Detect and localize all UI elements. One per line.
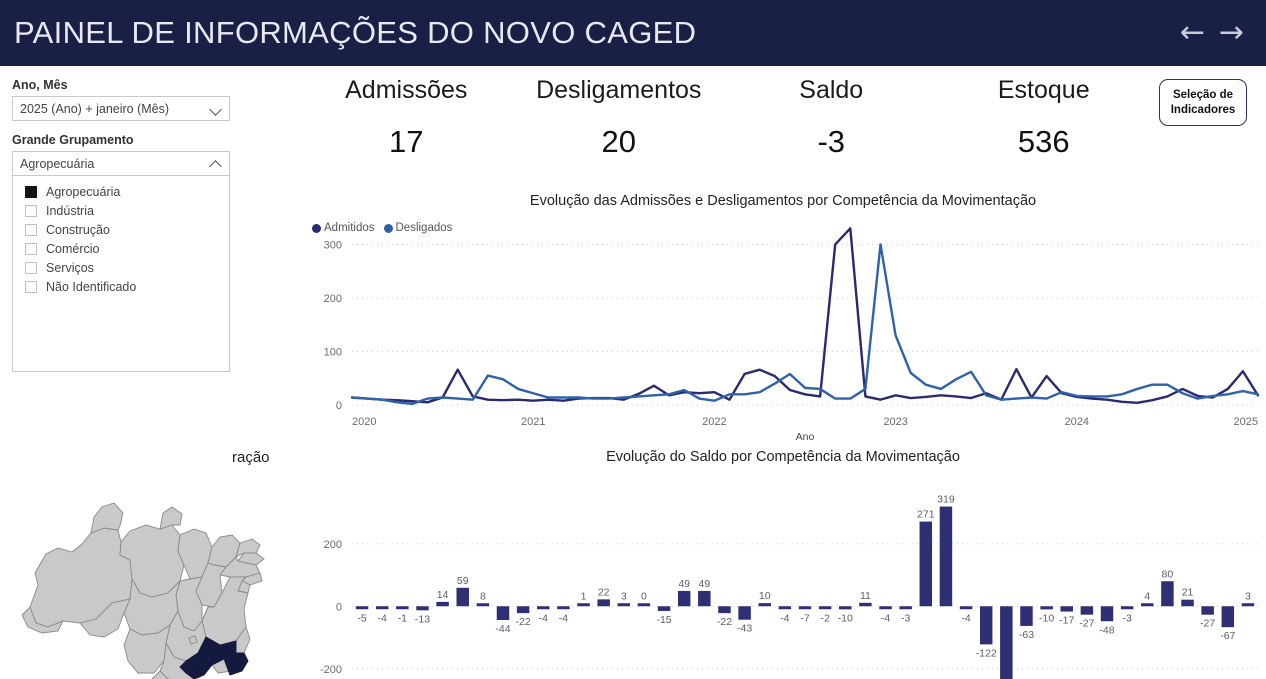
line-chart-title: Evolução das Admissões e Desligamentos p… [300,193,1266,209]
y-tick-label: 200 [324,293,342,305]
bar-37[interactable] [1101,606,1113,621]
bar-chart-svg: -2000200-5-4-1-1314598-44-22-4-412230-15… [300,470,1266,679]
occluded-chart-title: ração [232,449,270,466]
bar-value-label: -44 [495,623,510,635]
state-roraima [91,503,123,533]
kpi-card-3: Estoque536 [938,75,1151,185]
bar-value-label: -1 [398,612,407,624]
dashboard-root: PAINEL DE INFORMAÇÕES DO NOVO CAGED ← → … [0,0,1266,679]
state-distrito-federal [189,636,197,644]
bar-18[interactable] [718,606,730,613]
bar-value-label: -22 [717,616,732,628]
kpi-value: 17 [300,125,513,159]
bar-31[interactable] [980,606,992,644]
bar-27[interactable] [899,606,911,609]
checkbox-icon[interactable] [25,205,37,217]
group-filter-options[interactable]: AgropecuáriaIndústriaConstruçãoComércioS… [12,176,230,372]
bar-chart[interactable]: -2000200-5-4-1-1314598-44-22-4-412230-15… [300,470,1266,679]
arrow-left-icon[interactable]: ← [1180,18,1205,48]
bar-value-label: -10 [838,612,853,624]
kpi-title: Desligamentos [513,75,726,105]
bar-value-label: 49 [698,578,710,590]
kpi-card-1: Desligamentos20 [513,75,726,185]
period-filter-select[interactable]: 2025 (Ano) + janeiro (Mês) [12,96,230,121]
arrow-right-icon[interactable]: → [1219,18,1244,48]
bar-value-label: -4 [559,612,568,624]
x-tick-label: 2024 [1065,416,1089,428]
bar-value-label: -7 [800,612,809,624]
group-option-label: Construção [46,223,110,237]
checkbox-icon[interactable] [25,224,37,236]
bar-6[interactable] [477,603,489,606]
checkbox-icon[interactable] [25,243,37,255]
bar-32[interactable] [1000,606,1012,679]
period-filter-value: 2025 (Ano) + janeiro (Mês) [20,102,169,116]
bar-value-label: 4 [1144,590,1150,602]
y-tick-label: 0 [336,400,342,412]
bar-value-label: -3 [1122,612,1131,624]
kpi-row: Admissões17Desligamentos20Saldo-3Estoque… [300,75,1150,185]
bar-value-label: -17 [1059,615,1074,627]
bar-value-label: -10 [1039,612,1054,624]
group-option-5[interactable]: Não Identificado [13,277,229,296]
bar-value-label: 0 [641,590,647,602]
bar-25[interactable] [859,603,871,606]
x-tick-label: 2023 [883,416,907,428]
group-option-3[interactable]: Comércio [13,239,229,258]
bar-41[interactable] [1181,600,1193,607]
app-header: PAINEL DE INFORMAÇÕES DO NOVO CAGED ← → [0,0,1266,66]
bar-value-label: -27 [1200,618,1215,630]
state-amapa [160,507,182,529]
y-tick-label: 200 [324,539,342,551]
bar-value-label: -4 [961,612,970,624]
x-tick-label: 2022 [702,416,726,428]
x-axis-title: Ano [796,431,815,443]
bar-33[interactable] [1020,606,1032,626]
group-option-1[interactable]: Indústria [13,201,229,220]
bar-4[interactable] [436,602,448,606]
group-option-label: Comércio [46,242,100,256]
bar-19[interactable] [738,606,750,619]
bar-17[interactable] [698,591,710,606]
bar-value-label: -43 [737,623,752,635]
bar-chart-title: Evolução do Saldo por Competência da Mov… [300,449,1266,465]
bar-2[interactable] [396,606,408,609]
bar-1[interactable] [376,606,388,609]
bar-value-label: -27 [1079,618,1094,630]
group-filter-label: Grande Grupamento [12,133,300,147]
brazil-map-svg [8,481,300,679]
x-tick-label: 2020 [352,416,376,428]
bar-value-label: 271 [917,509,935,521]
bar-3[interactable] [416,606,428,610]
group-filter-value: Agropecuária [20,157,94,171]
bar-9[interactable] [537,606,549,609]
bar-21[interactable] [779,606,791,609]
bar-value-label: 11 [860,590,871,602]
group-option-label: Agropecuária [46,185,120,199]
bar-value-label: 319 [937,494,955,506]
indicator-selection-button[interactable]: Seleção de Indicadores [1159,79,1247,126]
brazil-map[interactable] [8,481,300,679]
bar-value-label: -4 [780,612,789,624]
page-title: PAINEL DE INFORMAÇÕES DO NOVO CAGED [0,15,696,51]
line-chart-svg: 0100200300202020212022202320242025Ano [300,215,1266,443]
bar-8[interactable] [517,606,529,613]
bar-value-label: 3 [1245,590,1251,602]
y-tick-label: 100 [324,346,342,358]
bar-0[interactable] [356,606,368,609]
bar-value-label: 22 [598,586,610,598]
bar-value-label: 10 [759,590,771,602]
bar-22[interactable] [799,606,811,609]
bar-value-label: 8 [480,590,486,602]
chevron-up-icon [211,158,222,169]
bar-value-label: 1 [581,590,587,602]
bar-value-label: -2 [820,612,829,624]
bar-36[interactable] [1081,606,1093,614]
indicator-button-line2: Indicadores [1171,103,1236,118]
line-series-desligados [352,244,1258,404]
bar-39[interactable] [1141,603,1153,606]
kpi-title: Admissões [300,75,513,105]
kpi-value: -3 [725,125,938,159]
group-filter-select[interactable]: Agropecuária [12,151,230,176]
bar-24[interactable] [839,606,851,609]
bar-20[interactable] [758,603,770,606]
group-option-2[interactable]: Construção [13,220,229,239]
group-option-4[interactable]: Serviços [13,258,229,277]
checkbox-icon[interactable] [25,281,37,293]
bar-43[interactable] [1222,606,1234,627]
indicator-button-line1: Seleção de [1173,88,1233,103]
y-tick-label: 300 [324,239,342,251]
chevron-down-icon [211,103,222,114]
kpi-card-2: Saldo-3 [725,75,938,185]
bar-15[interactable] [658,606,670,611]
group-option-label: Indústria [46,204,94,218]
bar-value-label: -4 [378,612,387,624]
bar-7[interactable] [497,606,509,620]
bar-value-label: -122 [976,647,997,659]
bar-value-label: -4 [881,612,890,624]
bar-value-label: 14 [437,589,449,601]
kpi-card-0: Admissões17 [300,75,513,185]
bar-14[interactable] [638,603,650,606]
bar-value-label: -15 [656,614,671,626]
bar-10[interactable] [557,606,569,609]
bar-value-label: -63 [1019,629,1034,641]
period-filter-label: Ano, Mês [12,78,300,92]
checkbox-icon[interactable] [25,262,37,274]
bar-value-label: 80 [1162,568,1174,580]
bar-40[interactable] [1161,581,1173,606]
bar-value-label: 3 [621,590,627,602]
y-tick-label: 0 [336,601,342,613]
x-tick-label: 2021 [521,416,545,428]
bar-value-label: -13 [415,613,430,625]
line-chart[interactable]: 0100200300202020212022202320242025Ano [300,215,1266,443]
bar-11[interactable] [577,603,589,606]
bar-value-label: -67 [1220,630,1235,642]
bar-34[interactable] [1040,606,1052,609]
bar-value-label: -48 [1099,624,1114,636]
kpi-title: Estoque [938,75,1151,105]
group-option-label: Serviços [46,261,94,275]
header-navigation: ← → [1180,18,1266,48]
group-option-label: Não Identificado [46,280,136,294]
bar-5[interactable] [456,588,468,606]
bar-38[interactable] [1121,606,1133,609]
bar-value-label: 21 [1182,587,1194,599]
bar-value-label: -5 [357,612,366,624]
filter-panel: Ano, Mês 2025 (Ano) + janeiro (Mês) Gran… [0,66,300,679]
group-option-0[interactable]: Agropecuária [13,182,229,201]
checkbox-icon[interactable] [25,186,37,198]
bar-28[interactable] [920,522,932,607]
bar-13[interactable] [618,603,630,606]
x-tick-label: 2025 [1234,416,1258,428]
bar-35[interactable] [1060,606,1072,611]
y-tick-label: -200 [320,664,342,676]
kpi-value: 536 [938,125,1151,159]
bar-26[interactable] [879,606,891,609]
bar-42[interactable] [1201,606,1213,614]
bar-value-label: 49 [678,578,690,590]
bar-29[interactable] [940,507,952,607]
bar-23[interactable] [819,606,831,609]
bar-value-label: 59 [457,575,469,587]
bar-value-label: -22 [516,616,531,628]
kpi-value: 20 [513,125,726,159]
bar-16[interactable] [678,591,690,606]
bar-30[interactable] [960,606,972,609]
bar-44[interactable] [1242,603,1254,606]
bar-value-label: -4 [539,612,548,624]
kpi-title: Saldo [725,75,938,105]
bar-12[interactable] [597,599,609,606]
bar-value-label: -3 [901,612,910,624]
